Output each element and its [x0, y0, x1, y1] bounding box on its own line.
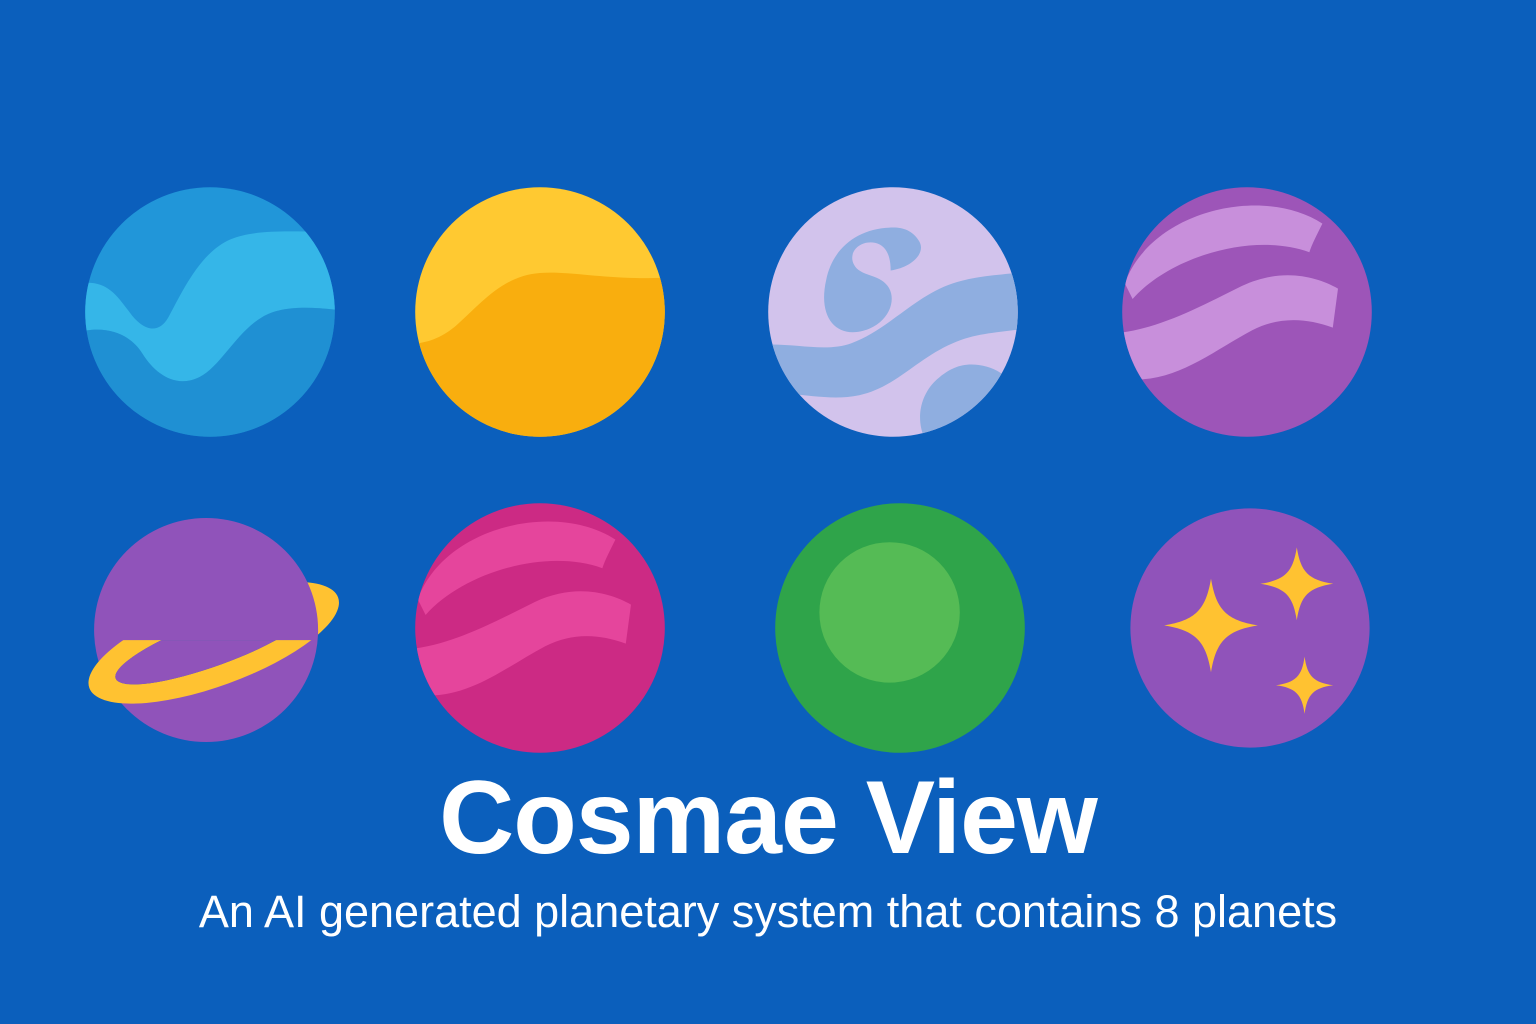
planet-grid	[0, 160, 1536, 780]
planet-yellow-swirl-planet[interactable]	[410, 182, 670, 442]
yellow-swirl-planet-icon	[410, 182, 670, 442]
planet-starry-purple-planet[interactable]	[1120, 498, 1380, 758]
lavender-cloud-planet-icon	[763, 182, 1023, 442]
purple-striped-planet-icon	[1117, 182, 1377, 442]
ringed-purple-planet-icon	[50, 490, 380, 770]
planet-row-2	[0, 470, 1536, 780]
poster-canvas: Cosmae View An AI generated planetary sy…	[0, 0, 1536, 1024]
planet-green-ring-planet[interactable]	[770, 498, 1030, 758]
page-title: Cosmae View	[0, 762, 1536, 874]
planet-blue-wave-planet[interactable]	[80, 182, 340, 442]
planet-row-1	[0, 160, 1536, 470]
planet-lavender-cloud-planet[interactable]	[763, 182, 1023, 442]
planet-magenta-striped-planet[interactable]	[410, 498, 670, 758]
blue-wave-planet-icon	[80, 182, 340, 442]
starry-purple-planet-icon	[1120, 498, 1380, 758]
green-ring-planet-icon	[770, 498, 1030, 758]
title-block: Cosmae View An AI generated planetary sy…	[0, 762, 1536, 938]
page-subtitle: An AI generated planetary system that co…	[0, 886, 1536, 938]
planet-purple-striped-planet[interactable]	[1117, 182, 1377, 442]
magenta-striped-planet-icon	[410, 498, 670, 758]
planet-ringed-purple-planet[interactable]	[50, 490, 380, 770]
